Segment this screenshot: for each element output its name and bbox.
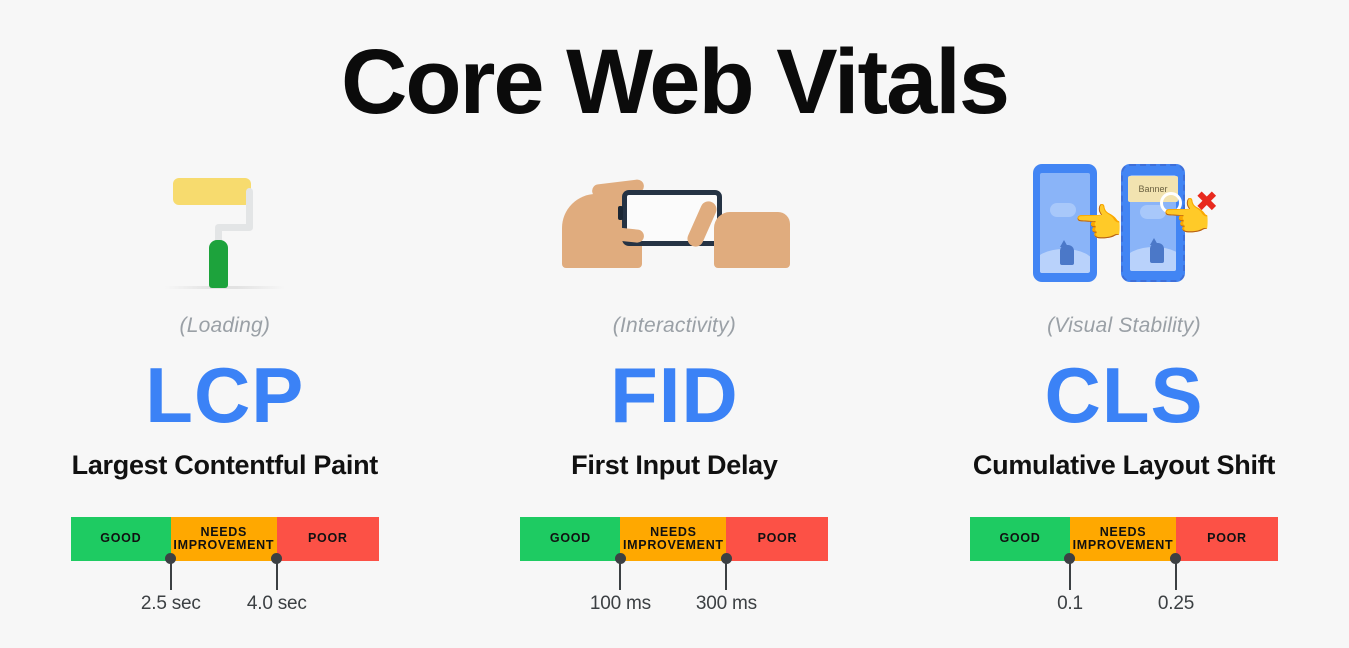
- cls-icon-box: Banner 👈 👈 ✖: [994, 150, 1254, 290]
- metric-column-cls: Banner 👈 👈 ✖ (Visual Stability) CLS Cumu…: [899, 150, 1349, 561]
- bar-fid: GOOD NEEDS IMPROVEMENT POOR: [520, 517, 828, 561]
- aspect-label-cls: (Visual Stability): [1047, 314, 1201, 338]
- pointing-hand-icon-left: 👈: [1073, 204, 1123, 244]
- hands-tapping-phone-icon: [554, 170, 794, 290]
- marker-stem: [725, 558, 727, 590]
- fullname-fid: First Input Delay: [571, 450, 777, 481]
- bar-segment-poor-cls: POOR: [1176, 517, 1278, 561]
- lcp-icon-box: [95, 150, 355, 290]
- metric-column-lcp: (Loading) LCP Largest Contentful Paint G…: [0, 150, 450, 561]
- marker-stem: [1069, 558, 1071, 590]
- metric-column-fid: (Interactivity) FID First Input Delay GO…: [450, 150, 900, 561]
- roller-grip: [209, 240, 228, 288]
- bar-segment-needs-fid: NEEDS IMPROVEMENT: [620, 517, 726, 561]
- error-cross-icon: ✖: [1195, 188, 1218, 216]
- illustration-cat: [1060, 245, 1074, 265]
- fullname-lcp: Largest Contentful Paint: [72, 450, 378, 481]
- bar-segment-poor-lcp: POOR: [277, 517, 379, 561]
- threshold-bar-cls: GOOD NEEDS IMPROVEMENT POOR 0.1 0.25: [970, 517, 1278, 561]
- paint-roller-icon: [165, 170, 285, 290]
- threshold-label-fid-2: 300 ms: [696, 593, 757, 615]
- aspect-label-fid: (Interactivity): [613, 314, 736, 338]
- roller-head: [173, 178, 251, 205]
- illustration-cat: [1150, 243, 1164, 263]
- bar-segment-needs-cls: NEEDS IMPROVEMENT: [1070, 517, 1176, 561]
- marker-stem: [276, 558, 278, 590]
- threshold-label-cls-2: 0.25: [1158, 593, 1194, 615]
- bar-segment-poor-fid: POOR: [726, 517, 828, 561]
- acronym-lcp: LCP: [145, 356, 304, 434]
- threshold-bar-fid: GOOD NEEDS IMPROVEMENT POOR 100 ms 300 m…: [520, 517, 828, 561]
- bar-segment-good-cls: GOOD: [970, 517, 1070, 561]
- infographic-page: Core Web Vitals (Loading) LCP Largest Co…: [0, 0, 1349, 648]
- threshold-label-lcp-2: 4.0 sec: [247, 593, 307, 615]
- marker-stem: [619, 558, 621, 590]
- bar-lcp: GOOD NEEDS IMPROVEMENT POOR: [71, 517, 379, 561]
- right-hand: [714, 212, 790, 268]
- bar-segment-good-fid: GOOD: [520, 517, 620, 561]
- metrics-columns: (Loading) LCP Largest Contentful Paint G…: [0, 150, 1349, 561]
- marker-stem: [1175, 558, 1177, 590]
- fullname-cls: Cumulative Layout Shift: [973, 450, 1275, 481]
- marker-stem: [170, 558, 172, 590]
- bar-segment-needs-lcp: NEEDS IMPROVEMENT: [171, 517, 277, 561]
- threshold-label-lcp-1: 2.5 sec: [141, 593, 201, 615]
- phone-side-button: [618, 206, 623, 220]
- threshold-bar-lcp: GOOD NEEDS IMPROVEMENT POOR 2.5 sec 4.0 …: [71, 517, 379, 561]
- threshold-label-fid-1: 100 ms: [590, 593, 651, 615]
- bar-segment-good-lcp: GOOD: [71, 517, 171, 561]
- page-title: Core Web Vitals: [0, 34, 1349, 131]
- aspect-label-lcp: (Loading): [180, 314, 271, 338]
- shifting-layout-phones-icon: Banner 👈 👈 ✖: [1009, 160, 1239, 290]
- acronym-fid: FID: [610, 356, 739, 434]
- fid-icon-box: [544, 150, 804, 290]
- bar-cls: GOOD NEEDS IMPROVEMENT POOR: [970, 517, 1278, 561]
- threshold-label-cls-1: 0.1: [1057, 593, 1083, 615]
- acronym-cls: CLS: [1044, 356, 1203, 434]
